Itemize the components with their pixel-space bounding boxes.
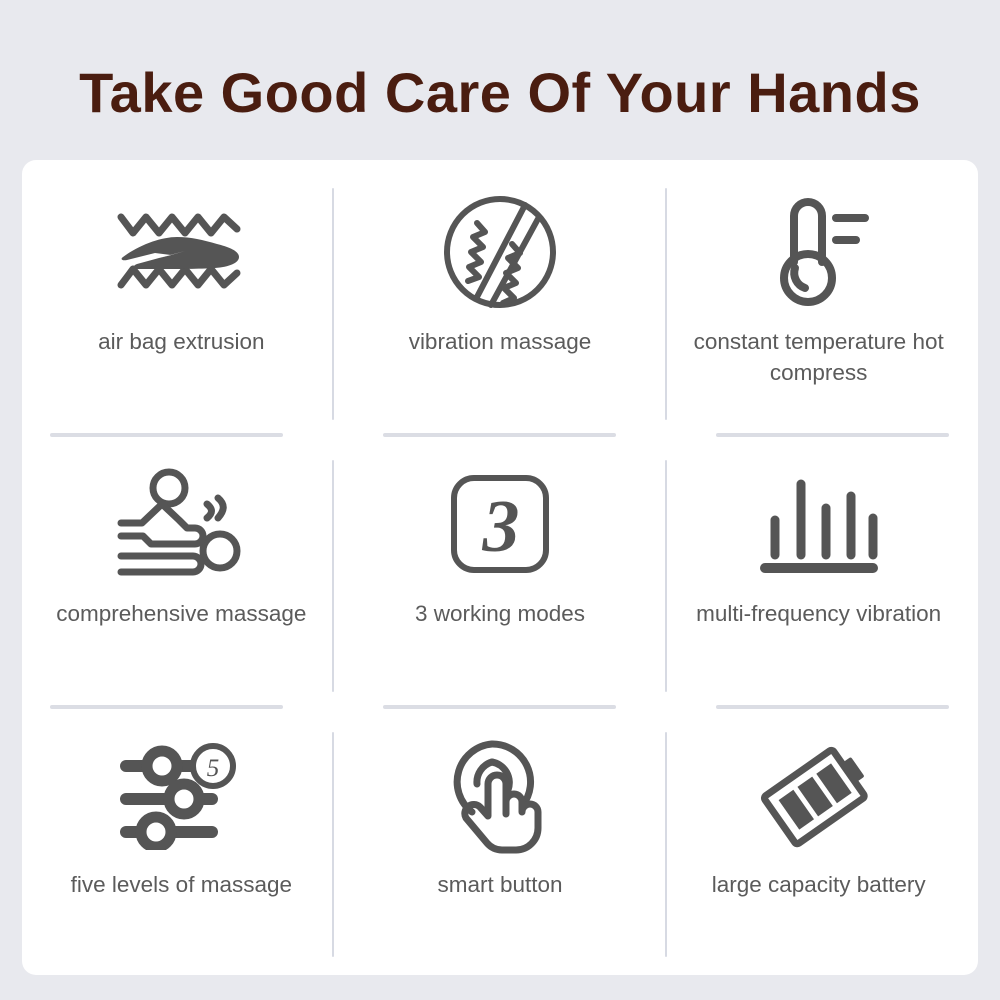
page-title: Take Good Care Of Your Hands (0, 60, 1000, 125)
air-bag-hand-waves-icon (115, 186, 247, 318)
thermometer-heat-icon (764, 186, 874, 318)
feature-cell-multi-frequency-vibration[interactable]: multi-frequency vibration (659, 432, 978, 704)
feature-cell-smart-button[interactable]: smart button (341, 703, 660, 975)
feature-cell-three-working-modes[interactable]: 3 3 working modes (341, 432, 660, 704)
feature-label: 3 working modes (415, 598, 585, 629)
feature-grid-card: air bag extrusion vibration mas (22, 160, 978, 975)
feature-label: constant temperature hot compress (689, 326, 949, 388)
feature-cell-vibration-massage[interactable]: vibration massage (341, 160, 660, 432)
levels-count-number: 5 (207, 755, 220, 782)
feature-label: vibration massage (409, 326, 592, 357)
feature-label: air bag extrusion (98, 326, 264, 357)
touch-hand-icon (448, 729, 552, 861)
feature-cell-constant-temperature[interactable]: constant temperature hot compress (659, 160, 978, 432)
feature-cell-air-bag-extrusion[interactable]: air bag extrusion (22, 160, 341, 432)
vibration-circle-icon (441, 186, 559, 318)
feature-label: multi-frequency vibration (696, 598, 941, 629)
slider-levels-icon: 5 (116, 729, 246, 861)
feature-poster: Take Good Care Of Your Hands (0, 0, 1000, 1000)
feature-label: comprehensive massage (56, 598, 306, 629)
person-massage-table-icon (115, 458, 247, 590)
battery-capacity-icon (760, 729, 878, 861)
feature-grid: air bag extrusion vibration mas (22, 160, 978, 975)
feature-label: five levels of massage (71, 869, 292, 900)
number-three-square-icon: 3 (448, 458, 552, 590)
frequency-bars-icon (757, 458, 881, 590)
feature-cell-large-capacity-battery[interactable]: large capacity battery (659, 703, 978, 975)
feature-cell-five-levels-of-massage[interactable]: 5 five levels of massage (22, 703, 341, 975)
feature-label: smart button (437, 869, 562, 900)
mode-count-number: 3 (481, 486, 519, 568)
feature-label: large capacity battery (712, 869, 926, 900)
feature-cell-comprehensive-massage[interactable]: comprehensive massage (22, 432, 341, 704)
